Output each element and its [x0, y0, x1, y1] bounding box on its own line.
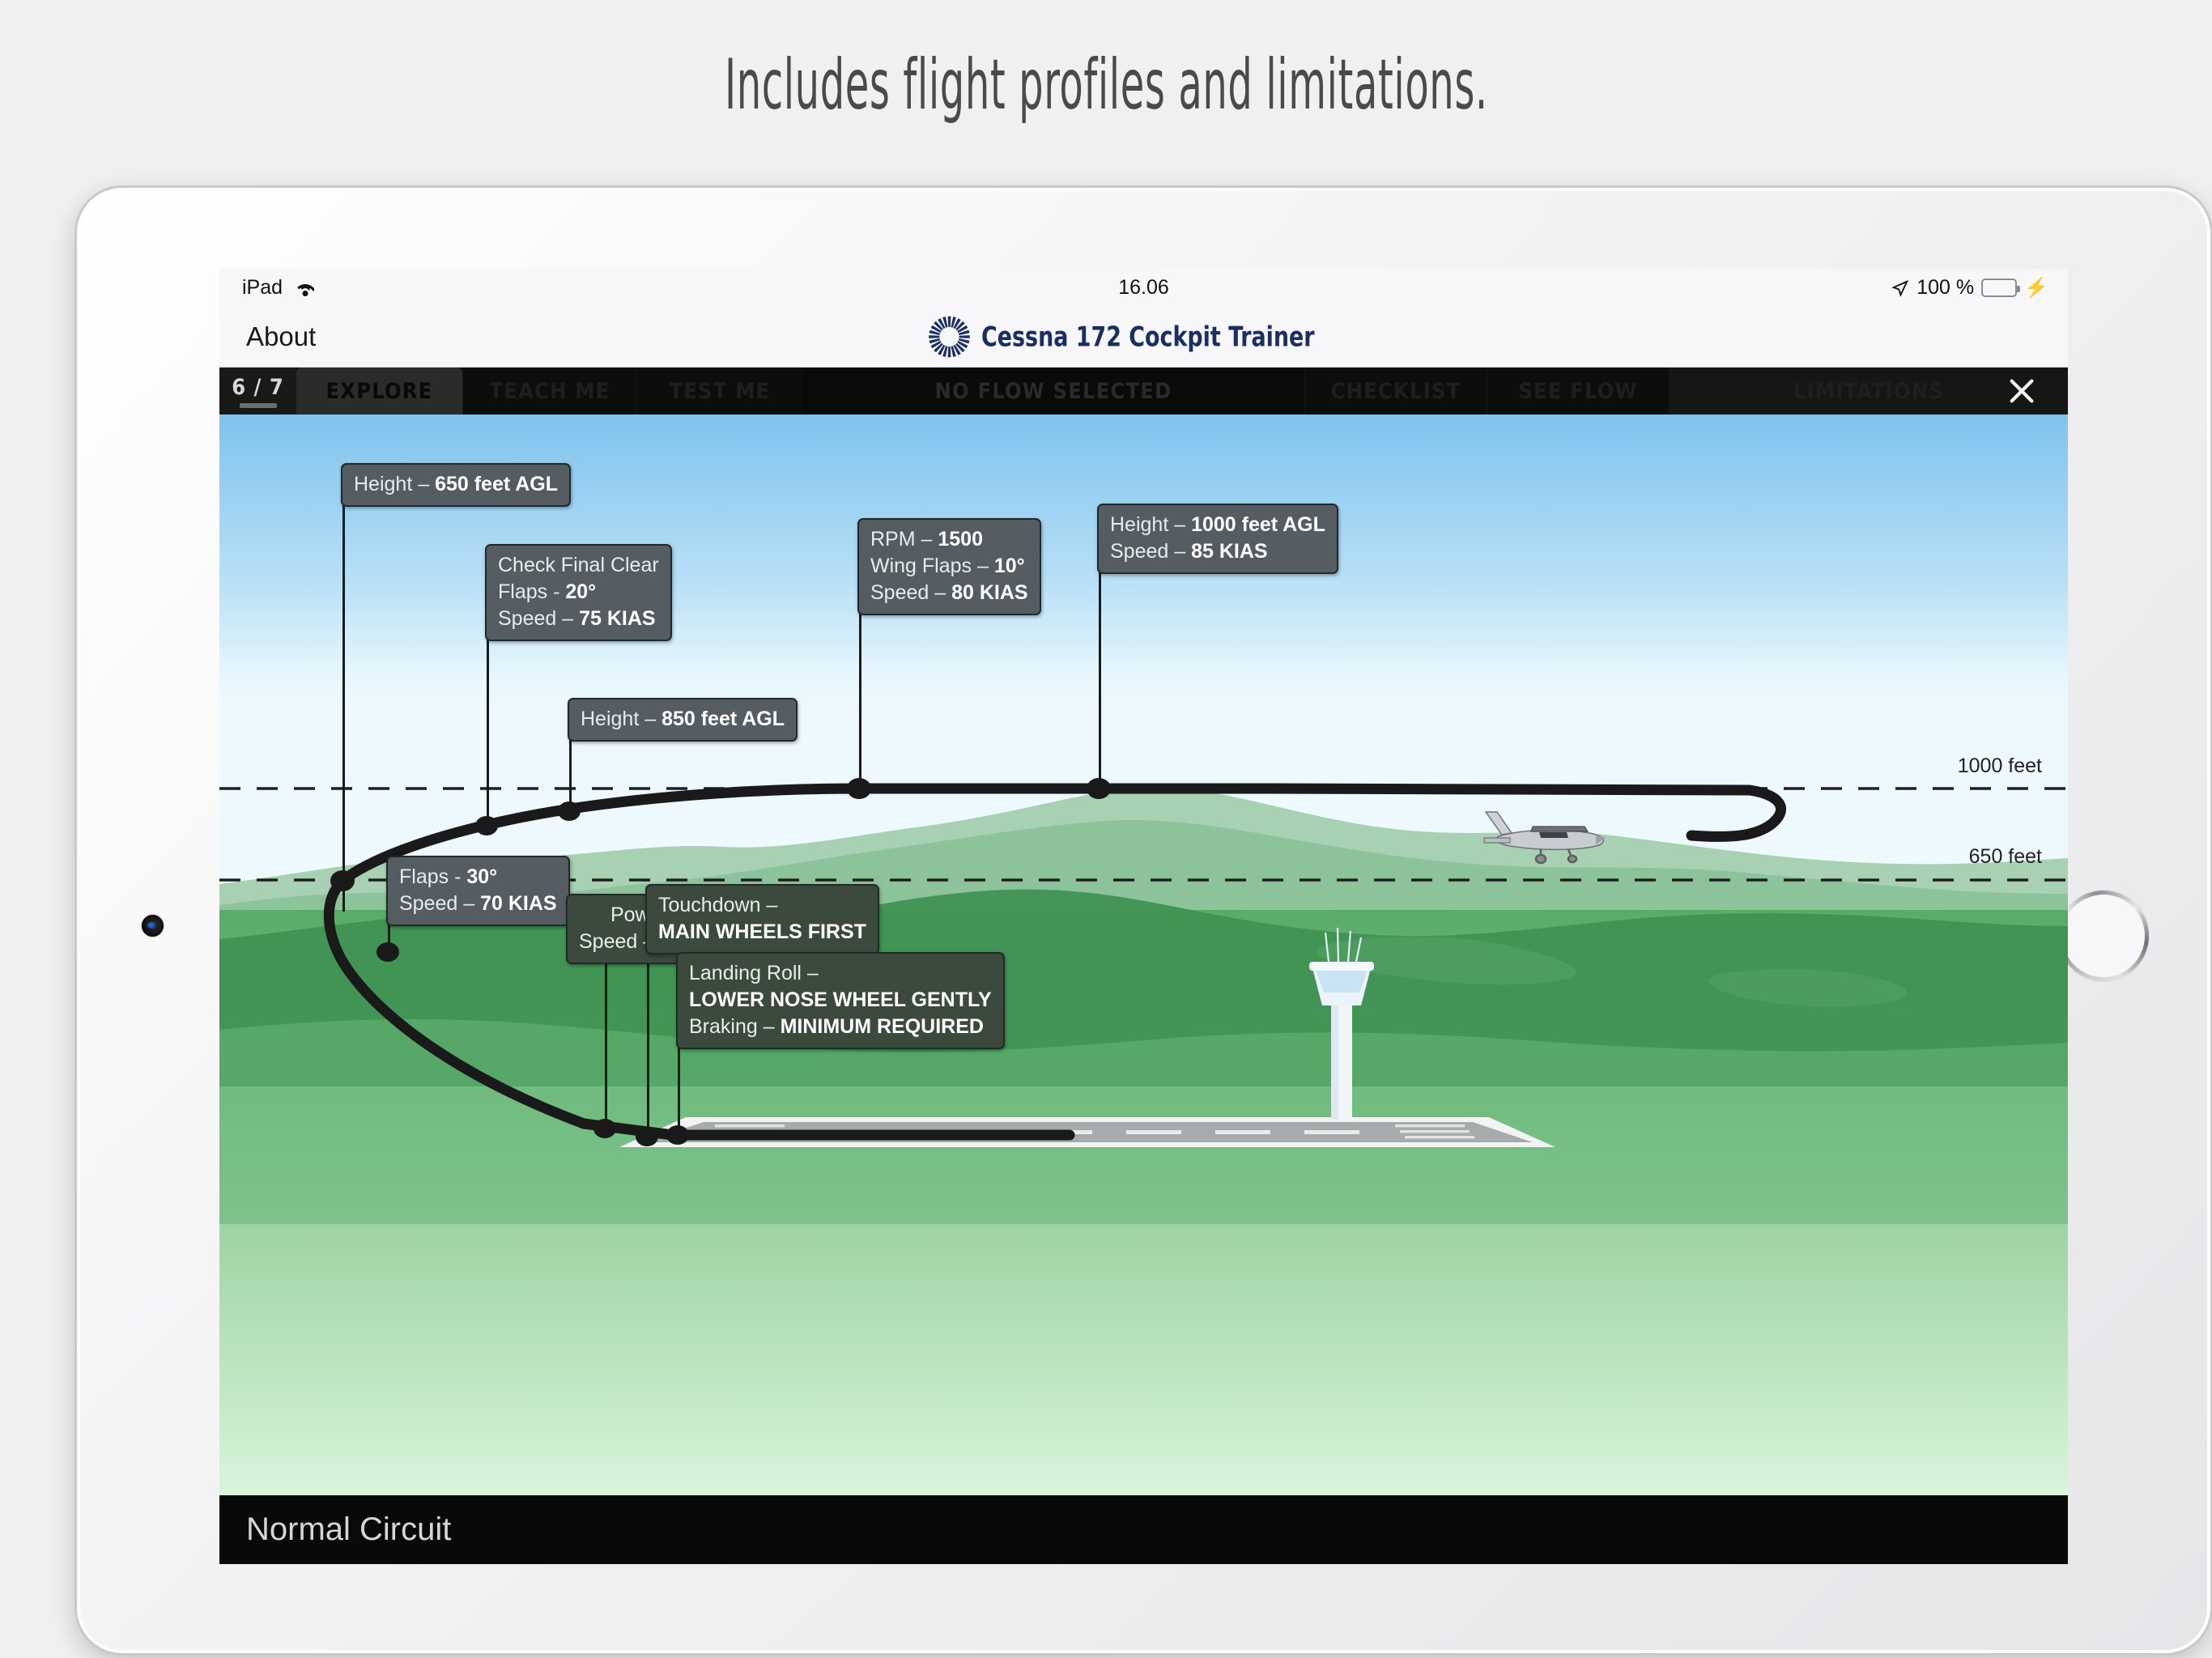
- callout-value: 850 feet AGL: [661, 708, 785, 730]
- cessna-sunburst-logo-icon: [927, 315, 972, 359]
- tab-explore[interactable]: EXPLORE: [296, 368, 462, 414]
- callout-stem: [1099, 551, 1101, 797]
- callout-stem: [342, 504, 345, 912]
- callout-flaps-30[interactable]: Flaps - 30° Speed – 70 KIAS: [386, 856, 570, 926]
- callout-value: 650 feet AGL: [435, 473, 558, 495]
- status-bar-right: 100 % ⚡: [1891, 276, 2048, 300]
- app-title-text: Cessna 172 Cockpit Trainer: [981, 321, 1315, 353]
- page-indicator-bar: [240, 403, 277, 408]
- callout-touchdown[interactable]: Touchdown – MAIN WHEELS FIRST: [645, 884, 879, 954]
- callout-label: RPM –: [870, 528, 938, 551]
- callout-label: Flaps -: [498, 580, 565, 603]
- callout-height-650[interactable]: Height – 650 feet AGL: [341, 463, 571, 507]
- callout-value: LOWER NOSE WHEEL GENTLY: [689, 988, 992, 1011]
- ipad-device-frame: iPad 16.06 100 % ⚡ About: [77, 188, 2210, 1653]
- callout-label: Flaps -: [399, 865, 466, 888]
- profile-caption-bar: Normal Circuit: [219, 1495, 2068, 1564]
- location-arrow-icon: [1891, 279, 1909, 297]
- callout-label: Speed –: [498, 607, 579, 630]
- battery-icon: [1981, 278, 2017, 297]
- tab-see-flow[interactable]: SEE FLOW: [1487, 368, 1669, 414]
- promo-headline-text: Includes flight profiles and limitations…: [725, 45, 1488, 125]
- callout-rpm-1500[interactable]: RPM – 1500 Wing Flaps – 10° Speed – 80 K…: [857, 518, 1041, 615]
- callout-value: 20°: [565, 580, 596, 603]
- callout-label: Height –: [1110, 513, 1191, 536]
- callout-label: Check Final Clear: [498, 554, 659, 576]
- callout-value: 80 KIAS: [951, 581, 1027, 604]
- battery-percent-label: 100 %: [1916, 276, 1974, 300]
- altitude-label-1000: 1000 feet: [1958, 755, 2042, 778]
- front-camera-icon: [142, 915, 164, 937]
- callout-check-final-clear[interactable]: Check Final Clear Flaps - 20° Speed – 75…: [485, 544, 672, 641]
- callout-value: 1000 feet AGL: [1191, 513, 1325, 536]
- tab-teach-me[interactable]: TEACH ME: [462, 368, 636, 414]
- callout-value: 10°: [994, 555, 1025, 577]
- callout-label: Landing Roll –: [689, 962, 819, 984]
- callout-label: Wing Flaps –: [870, 555, 994, 577]
- callout-label: Speed –: [399, 892, 480, 915]
- page-indicator-label: 6 / 7: [232, 375, 284, 400]
- lightning-bolt-icon: ⚡: [2024, 278, 2048, 298]
- callout-stem: [569, 738, 572, 819]
- flow-selector[interactable]: NO FLOW SELECTED: [802, 368, 1304, 414]
- tab-test-me[interactable]: TEST ME: [636, 368, 802, 414]
- callout-label: Braking –: [689, 1015, 781, 1038]
- callout-label: Speed –: [1110, 540, 1191, 563]
- callout-label: Height –: [354, 473, 435, 495]
- home-button[interactable]: [2058, 891, 2149, 981]
- mode-tab-bar: 6 / 7 EXPLORE TEACH ME TEST ME NO FLOW S…: [219, 368, 2068, 414]
- close-icon[interactable]: [2006, 376, 2037, 406]
- ios-status-bar: iPad 16.06 100 % ⚡: [219, 269, 2068, 307]
- callout-height-850[interactable]: Height – 850 feet AGL: [568, 698, 798, 742]
- callout-label: Height –: [581, 708, 661, 730]
- callout-value: 75 KIAS: [579, 607, 655, 630]
- promo-headline: Includes flight profiles and limitations…: [0, 0, 2212, 170]
- ipad-screen: iPad 16.06 100 % ⚡ About: [219, 269, 2068, 1564]
- app-title-group: Cessna 172 Cockpit Trainer: [219, 315, 2068, 359]
- altitude-label-650: 650 feet: [1969, 845, 2042, 869]
- callout-value: 1500: [938, 528, 983, 551]
- profile-caption-text: Normal Circuit: [246, 1511, 451, 1548]
- callout-height-1000[interactable]: Height – 1000 feet AGL Speed – 85 KIAS: [1097, 504, 1338, 574]
- status-bar-clock: 16.06: [219, 276, 2068, 300]
- flight-profile-canvas: 1000 feet 650 feet Height – 650 feet AGL…: [219, 414, 2068, 1495]
- callout-value: 30°: [466, 865, 497, 888]
- tab-checklist[interactable]: CHECKLIST: [1304, 368, 1487, 414]
- callout-value: 85 KIAS: [1191, 540, 1267, 563]
- callout-label: Speed –: [870, 581, 951, 604]
- page-indicator[interactable]: 6 / 7: [219, 368, 296, 414]
- app-navigation-bar: About: [219, 307, 2068, 368]
- callout-label: Touchdown –: [658, 894, 777, 916]
- callout-value: MAIN WHEELS FIRST: [658, 920, 866, 943]
- callout-landing-roll[interactable]: Landing Roll – LOWER NOSE WHEEL GENTLY B…: [676, 952, 1005, 1049]
- callout-value: 70 KIAS: [480, 892, 556, 915]
- callout-value: MINIMUM REQUIRED: [781, 1015, 984, 1038]
